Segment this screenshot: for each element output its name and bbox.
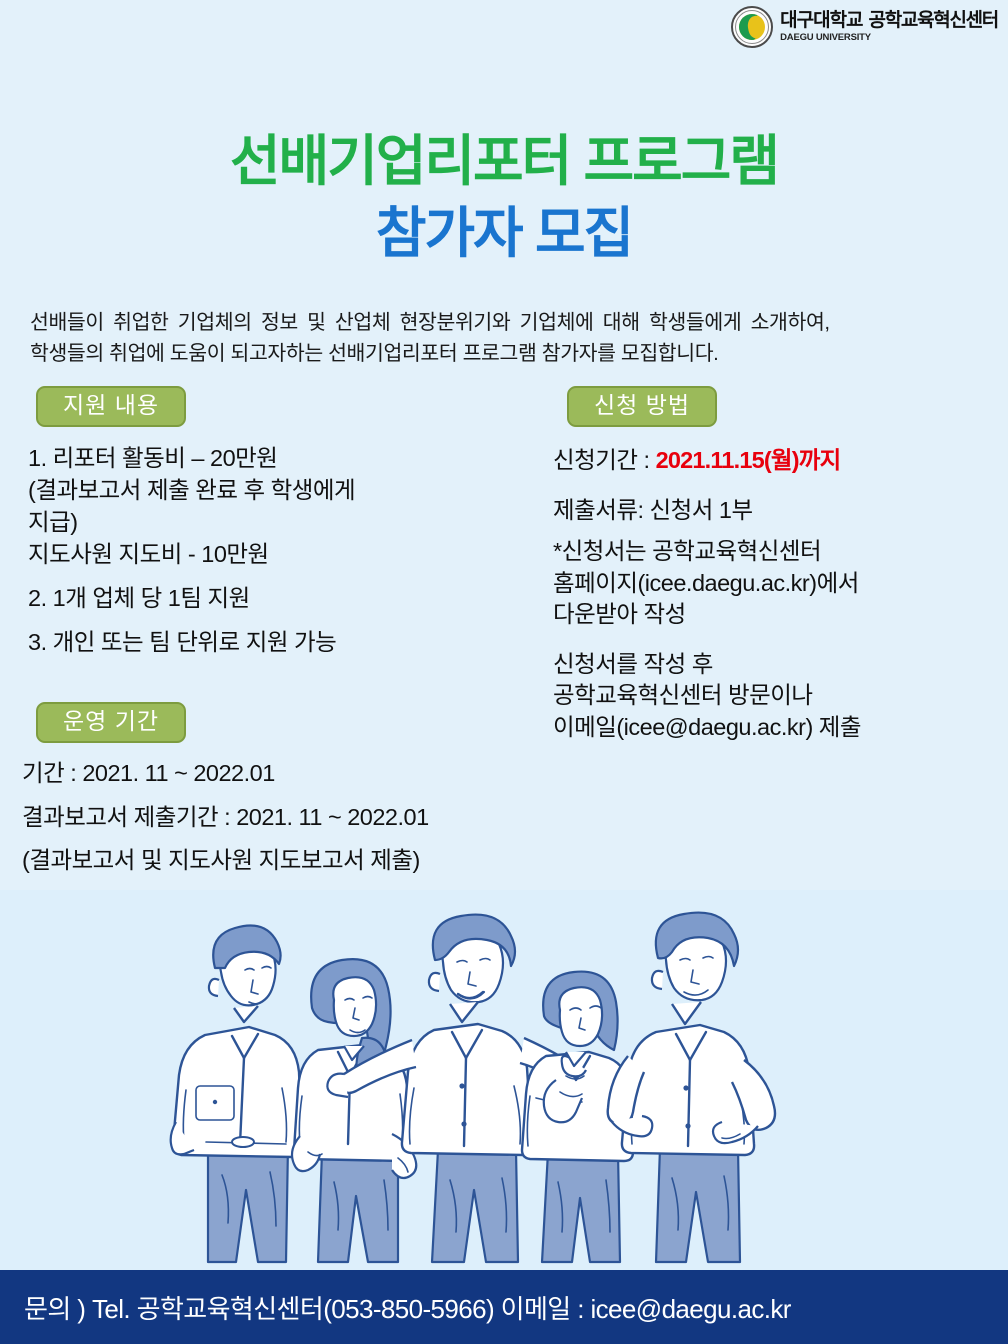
apply-period-label: 신청기간 : <box>553 447 656 473</box>
footer-contact-bar: 문의 ) Tel. 공학교육혁신센터(053-850-5966) 이메일 : i… <box>0 1270 1008 1344</box>
logo-university-en: DAEGU UNIVERSITY <box>780 33 998 43</box>
apply-documents: 제출서류: 신청서 1부 <box>553 495 993 526</box>
footer-contact-text: 문의 ) Tel. 공학교육혁신센터(053-850-5966) 이메일 : i… <box>0 1289 791 1326</box>
logo-text-block: 대구대학교 공학교육혁신센터 DAEGU UNIVERSITY <box>780 11 998 43</box>
apply-deadline-value: 2021.11.15(월)까지 <box>656 447 841 473</box>
support-item-3: 3. 개인 또는 팀 단위로 지원 가능 <box>28 627 522 659</box>
intro-line-2: 학생들의 취업에 도움이 되고자하는 선배기업리포터 프로그램 참가자를 모집합… <box>30 339 980 370</box>
apply-submit-line-3: 이메일(icee@daegu.ac.kr) 제출 <box>553 712 993 743</box>
period-badge-wrap: 운영 기간 <box>36 702 642 743</box>
apply-note-line-3: 다운받아 작성 <box>553 599 993 630</box>
daegu-university-seal-icon <box>731 6 773 48</box>
period-line-1: 기간 : 2021. 11 ~ 2022.01 <box>22 757 642 790</box>
apply-section: 신청 방법 신청기간 : 2021.11.15(월)까지 제출서류: 신청서 1… <box>553 386 993 743</box>
poster-root: 대구대학교 공학교육혁신센터 DAEGU UNIVERSITY 선배기업리포터 … <box>0 0 1008 1344</box>
support-item-1-main: 1. 리포터 활동비 – 20만원 <box>28 445 277 471</box>
support-list: 1. 리포터 활동비 – 20만원 (결과보고서 제출 완료 후 학생에게 지급… <box>28 443 522 659</box>
apply-badge-wrap: 신청 방법 <box>567 386 993 427</box>
intro-paragraph: 선배들이 취업한 기업체의 정보 및 산업체 현장분위기와 기업체에 대해 학생… <box>30 308 980 370</box>
apply-submit-line-1: 신청서를 작성 후 <box>553 649 993 680</box>
poster-title-line1: 선배기업리포터 프로그램 <box>0 116 1008 196</box>
support-item-1: 1. 리포터 활동비 – 20만원 (결과보고서 제출 완료 후 학생에게 지급… <box>28 443 522 571</box>
logo-name-row: 대구대학교 공학교육혁신센터 <box>780 11 998 30</box>
apply-period-row: 신청기간 : 2021.11.15(월)까지 <box>553 445 993 476</box>
students-illustration: .ln { fill:none; stroke:#2d5496; stroke-… <box>0 890 1008 1270</box>
students-illustration-svg: .ln { fill:none; stroke:#2d5496; stroke-… <box>0 890 1008 1270</box>
seal-emblem <box>739 14 765 40</box>
support-section: 지원 내용 1. 리포터 활동비 – 20만원 (결과보고서 제출 완료 후 학… <box>22 386 522 671</box>
logo-university-kr: 대구대학교 <box>780 11 862 30</box>
period-line-2: 결과보고서 제출기간 : 2021. 11 ~ 2022.01 <box>22 801 642 834</box>
period-badge: 운영 기간 <box>36 702 186 743</box>
support-item-1-sub1: (결과보고서 제출 완료 후 학생에게 <box>28 475 522 507</box>
support-item-3-main: 3. 개인 또는 팀 단위로 지원 가능 <box>28 629 336 655</box>
support-item-2: 2. 1개 업체 당 1팀 지원 <box>28 583 522 615</box>
logo-center-name: 공학교육혁신센터 <box>869 11 998 30</box>
poster-title-line2: 참가자 모집 <box>0 188 1008 268</box>
apply-note: *신청서는 공학교육혁신센터 홈페이지(icee.daegu.ac.kr)에서 … <box>553 536 993 630</box>
support-item-1-sub2: 지급) <box>28 507 522 539</box>
support-item-1-sub3: 지도사원 지도비 - 10만원 <box>28 539 522 571</box>
period-section: 운영 기간 기간 : 2021. 11 ~ 2022.01 결과보고서 제출기간… <box>22 702 642 887</box>
apply-submit: 신청서를 작성 후 공학교육혁신센터 방문이나 이메일(icee@daegu.a… <box>553 649 993 743</box>
apply-note-line-1: *신청서는 공학교육혁신센터 <box>553 536 993 567</box>
support-item-2-main: 2. 1개 업체 당 1팀 지원 <box>28 585 250 611</box>
intro-line-1: 선배들이 취업한 기업체의 정보 및 산업체 현장분위기와 기업체에 대해 학생… <box>30 308 980 339</box>
support-badge: 지원 내용 <box>36 386 186 427</box>
period-lines: 기간 : 2021. 11 ~ 2022.01 결과보고서 제출기간 : 202… <box>22 757 642 877</box>
university-logo: 대구대학교 공학교육혁신센터 DAEGU UNIVERSITY <box>731 4 998 50</box>
support-badge-wrap: 지원 내용 <box>36 386 522 427</box>
apply-badge: 신청 방법 <box>567 386 717 427</box>
period-line-3: (결과보고서 및 지도사원 지도보고서 제출) <box>22 844 642 877</box>
apply-submit-line-2: 공학교육혁신센터 방문이나 <box>553 680 993 711</box>
apply-note-line-2: 홈페이지(icee.daegu.ac.kr)에서 <box>553 568 993 599</box>
